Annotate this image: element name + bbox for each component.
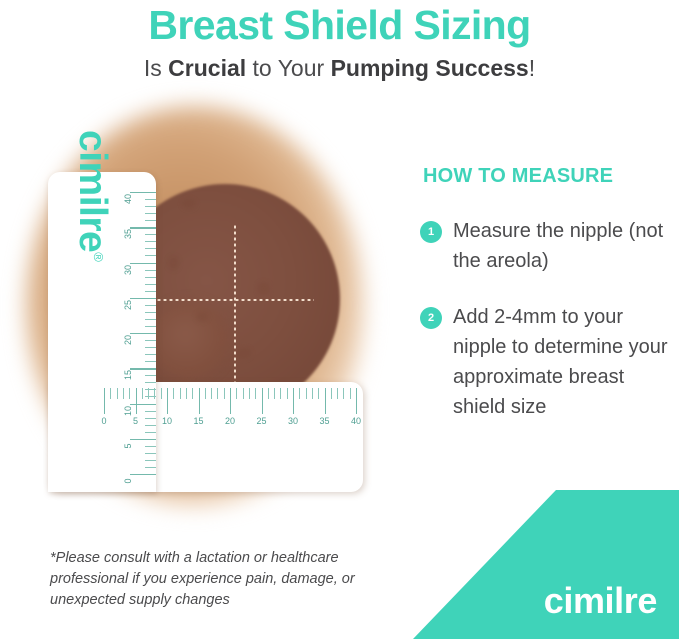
ruler-tick-label: 10	[158, 416, 176, 426]
subtitle-part-0: Is	[144, 55, 168, 81]
ruler-tick	[130, 368, 156, 369]
ruler-tick	[312, 388, 313, 399]
ruler-tick	[145, 319, 156, 320]
infographic-poster: Breast Shield Sizing Is Crucial to Your …	[0, 0, 679, 639]
ruler-tick	[199, 388, 200, 414]
ruler-tick-label: 0	[123, 472, 133, 490]
areola-bump	[257, 282, 270, 295]
footer-brand-logo: cimilre	[544, 581, 657, 621]
ruler-tick	[130, 263, 156, 264]
ruler-tick	[123, 388, 124, 399]
page-subtitle: Is Crucial to Your Pumping Success!	[0, 48, 679, 82]
subtitle-part-4: !	[529, 55, 535, 81]
areola-bump	[182, 199, 196, 209]
ruler-tick	[161, 388, 162, 399]
ruler-tick	[148, 388, 149, 399]
ruler-tick	[130, 333, 156, 334]
how-to-measure-heading: HOW TO MEASURE	[423, 165, 668, 188]
ruler-tick	[180, 388, 181, 399]
ruler-tick-label: 5	[127, 416, 145, 426]
ruler-tick	[154, 388, 155, 399]
ruler-tick	[325, 388, 326, 414]
ruler-tick	[173, 388, 174, 399]
areola-bump	[237, 347, 251, 359]
ruler-tick-label: 35	[123, 225, 133, 243]
step-item: 2 Add 2-4mm to your nipple to determine …	[420, 302, 668, 422]
subtitle-part-3: Pumping Success	[331, 55, 529, 81]
ruler-horizontal-scale: 0510152025303540	[104, 388, 356, 444]
step-text: Add 2-4mm to your nipple to determine yo…	[453, 302, 668, 422]
ruler-tick-label: 20	[221, 416, 239, 426]
breast-illustration: cimilre® 0510152025303540 05101520253035…	[0, 96, 400, 516]
ruler-tick-label: 20	[123, 331, 133, 349]
ruler-tick	[130, 227, 156, 228]
ruler-tick	[350, 388, 351, 399]
ruler-tick	[211, 388, 212, 399]
ruler-tick	[268, 388, 269, 399]
areola-bump	[196, 312, 208, 322]
step-number-badge: 2	[420, 307, 442, 329]
ruler-tick	[205, 388, 206, 399]
ruler-tick	[145, 284, 156, 285]
ruler-tick	[145, 270, 156, 271]
ruler-tick	[145, 453, 156, 454]
ruler-tick	[145, 213, 156, 214]
ruler-tick-label: 40	[123, 190, 133, 208]
ruler-tick	[280, 388, 281, 399]
ruler-tick	[145, 361, 156, 362]
step-item: 1 Measure the nipple (not the areola)	[420, 216, 668, 276]
ruler-tick	[145, 291, 156, 292]
how-to-measure-panel: HOW TO MEASURE 1 Measure the nipple (not…	[420, 165, 668, 448]
ruler-tick	[287, 388, 288, 399]
ruler-tick-label: 15	[123, 366, 133, 384]
ruler-tick-label: 30	[284, 416, 302, 426]
ruler-tick	[186, 388, 187, 399]
ruler-tick	[145, 241, 156, 242]
ruler-tick	[104, 388, 105, 414]
ruler-tick	[262, 388, 263, 414]
ruler-tick	[306, 388, 307, 399]
areola-bump	[168, 256, 179, 270]
ruler-tick	[192, 388, 193, 399]
ruler-tick	[337, 388, 338, 399]
subtitle-part-2: to Your	[246, 55, 330, 81]
ruler-tick	[142, 388, 143, 399]
ruler-tick	[356, 388, 357, 414]
ruler-tick	[255, 388, 256, 399]
ruler-tick	[145, 340, 156, 341]
header: Breast Shield Sizing Is Crucial to Your …	[0, 0, 679, 82]
ruler-tick	[145, 460, 156, 461]
ruler-tick	[145, 467, 156, 468]
page-title: Breast Shield Sizing	[0, 0, 679, 48]
ruler-tick	[145, 305, 156, 306]
ruler-tick	[117, 388, 118, 399]
ruler-tick-label: 15	[190, 416, 208, 426]
ruler-tick	[130, 474, 156, 475]
ruler-tick	[343, 388, 344, 399]
ruler-tick	[145, 347, 156, 348]
ruler-tick	[217, 388, 218, 399]
ruler-tick	[145, 255, 156, 256]
ruler-tick	[293, 388, 294, 414]
disclaimer-text: *Please consult with a lactation or heal…	[50, 548, 380, 611]
ruler-tick	[145, 312, 156, 313]
ruler-tick-label: 25	[253, 416, 271, 426]
ruler-tick	[318, 388, 319, 399]
ruler-tick-label: 25	[123, 296, 133, 314]
nipple-shape	[150, 301, 228, 379]
ruler-tick-label: 0	[95, 416, 113, 426]
ruler-tick	[145, 206, 156, 207]
crosshair-vertical-line	[234, 224, 236, 408]
subtitle-part-1: Crucial	[168, 55, 246, 81]
ruler-tick	[145, 446, 156, 447]
ruler-tick	[243, 388, 244, 399]
ruler-tick	[145, 375, 156, 376]
ruler-tick-label: 30	[123, 261, 133, 279]
ruler-tick	[145, 199, 156, 200]
ruler-tick	[136, 388, 137, 414]
ruler-tick	[145, 234, 156, 235]
ruler-tick	[130, 298, 156, 299]
ruler-tick	[224, 388, 225, 399]
ruler-tick-label: 40	[347, 416, 365, 426]
ruler-tick	[130, 192, 156, 193]
ruler-tick	[230, 388, 231, 414]
ruler-tick	[145, 354, 156, 355]
ruler-tick	[145, 277, 156, 278]
ruler-tick	[331, 388, 332, 399]
ruler-tick-label: 35	[316, 416, 334, 426]
ruler-tick	[167, 388, 168, 414]
ruler-tick	[110, 388, 111, 399]
ruler-tick	[249, 388, 250, 399]
step-text: Measure the nipple (not the areola)	[453, 216, 668, 276]
ruler-tick	[145, 382, 156, 383]
ruler-tick	[145, 248, 156, 249]
ruler-tick	[299, 388, 300, 399]
ruler-tick	[129, 388, 130, 399]
ruler-tick	[236, 388, 237, 399]
ruler-tick	[274, 388, 275, 399]
ruler-tick	[145, 326, 156, 327]
ruler-tick	[145, 220, 156, 221]
step-number-badge: 1	[420, 221, 442, 243]
